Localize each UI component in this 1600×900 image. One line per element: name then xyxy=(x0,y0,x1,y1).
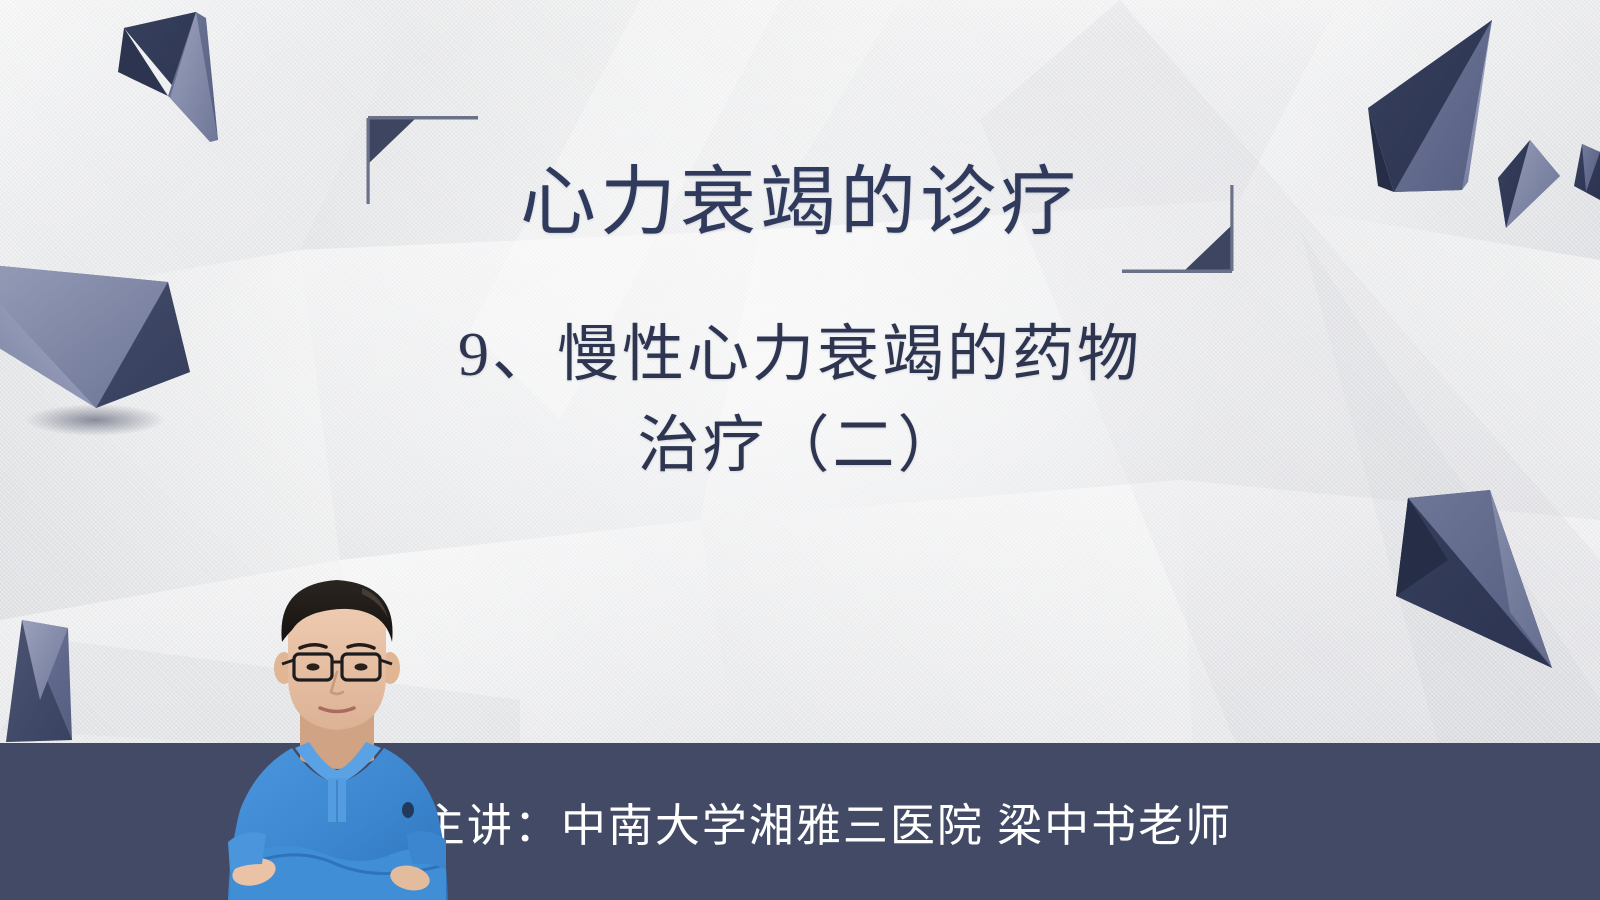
polygon-shard-small-right xyxy=(1498,140,1560,228)
subtitle-line-2: 治疗（二） xyxy=(0,401,1600,492)
subtitle-line-1: 9、慢性心力衰竭的药物 xyxy=(0,310,1600,401)
presenter-photo xyxy=(196,572,478,900)
slide-subtitle: 9、慢性心力衰竭的药物 治疗（二） xyxy=(0,310,1600,491)
polygon-shard-top-left xyxy=(118,12,218,142)
presentation-slide: 心力衰竭的诊疗 9、慢性心力衰竭的药物 治疗（二） xyxy=(0,0,1600,900)
polygon-kite-bottom-right xyxy=(1396,490,1552,668)
polygon-pyramid-top-right xyxy=(1368,20,1492,192)
title-block: 心力衰竭的诊疗 xyxy=(360,112,1240,277)
polygon-shard-tiny-right xyxy=(1574,144,1600,200)
page-title: 心力衰竭的诊疗 xyxy=(360,112,1240,277)
polygon-spike-bottom-left xyxy=(6,620,72,742)
